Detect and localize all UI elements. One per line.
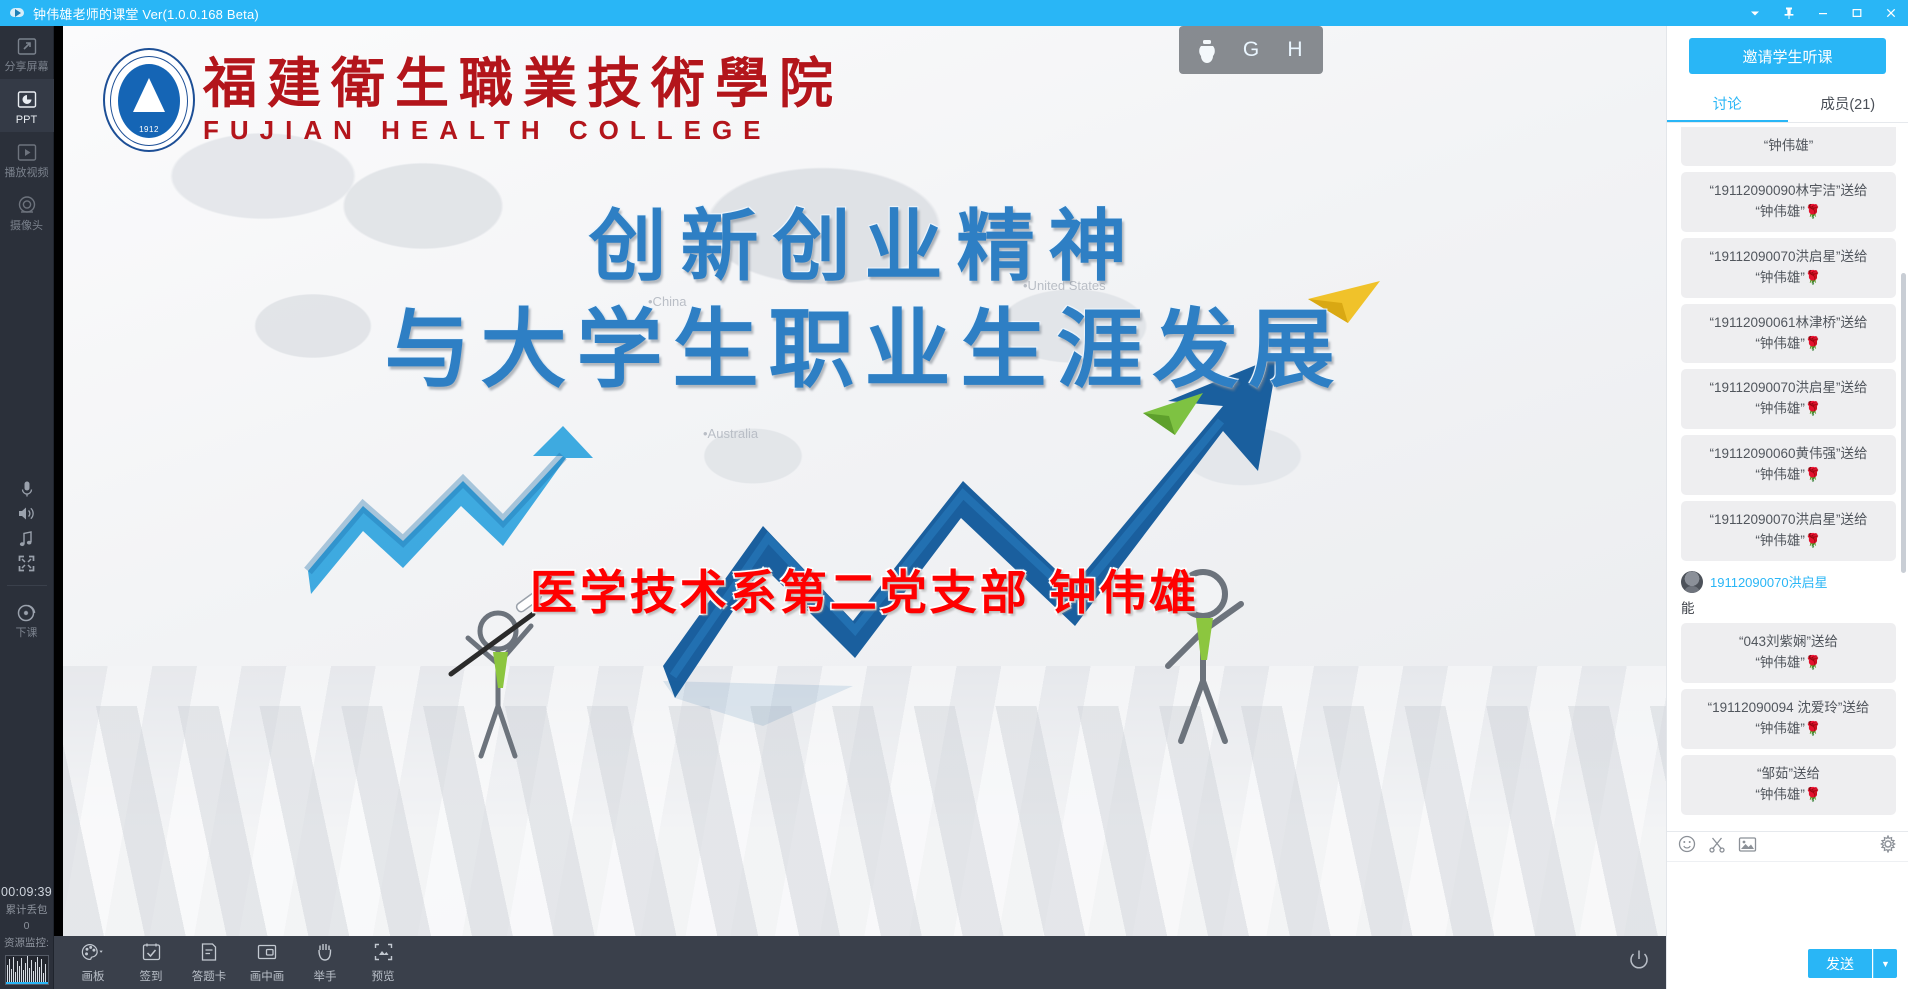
- end-class-label: 下课: [16, 627, 38, 639]
- send-button[interactable]: 发送: [1808, 949, 1872, 978]
- toolbar-item-pip[interactable]: 画中画: [238, 936, 296, 989]
- gift-message-line1: “19112090060黄伟强”送给: [1691, 444, 1886, 465]
- headline-line-2: 与大学生职业生涯发展: [63, 296, 1666, 404]
- music-button[interactable]: [0, 529, 54, 554]
- fullscreen-icon: [18, 555, 35, 577]
- slide-subtitle: 医学技术系第二党支部 钟伟雄: [63, 554, 1666, 623]
- sidebar-item-label: 分享屏幕: [5, 61, 49, 73]
- slide-headline: 创新创业精神 与大学生职业生涯发展: [63, 198, 1666, 403]
- toolbar-item-label: 画中画: [250, 968, 285, 984]
- pin-icon[interactable]: [1772, 0, 1806, 26]
- maximize-icon[interactable]: [1840, 0, 1874, 26]
- rose-icon: 🌹: [1805, 533, 1822, 548]
- raise-hand-icon: [315, 942, 335, 965]
- rose-icon: 🌹: [1805, 336, 1822, 351]
- chat-scrollbar[interactable]: [1901, 273, 1906, 573]
- invite-wrap: 邀请学生听课: [1667, 26, 1908, 84]
- minimize-icon[interactable]: [1806, 0, 1840, 26]
- class-timer: 00:09:39: [1, 885, 52, 899]
- college-name-cn: 福建衛生職業技術學院: [203, 54, 843, 113]
- rose-icon: 🌹: [1805, 721, 1822, 736]
- gift-message-line2: “钟伟雄”: [1691, 136, 1886, 157]
- gift-message-line1: “19112090061林津桥”送给: [1691, 313, 1886, 334]
- preview-icon: [373, 942, 394, 965]
- list-item: “19112090061林津桥”送给 “钟伟雄”🌹: [1681, 304, 1896, 364]
- rose-icon: 🌹: [1805, 467, 1822, 482]
- microphone-icon: [19, 480, 35, 503]
- list-item: “19112090070洪启星”送给 “钟伟雄”🌹: [1681, 501, 1896, 561]
- gift-message-line2: “钟伟雄”: [1755, 336, 1805, 351]
- list-item: “19112090070洪启星”送给 “钟伟雄”🌹: [1681, 238, 1896, 298]
- toolbar-item-preview[interactable]: 预览: [354, 936, 412, 989]
- fullscreen-button[interactable]: [0, 554, 54, 579]
- toolbar-item-label: 预览: [372, 968, 395, 984]
- close-icon[interactable]: [1874, 0, 1908, 26]
- growth-arrows-graphic: [63, 26, 1666, 936]
- toolbar-item-label: 举手: [314, 968, 337, 984]
- tool-g-button[interactable]: G: [1231, 30, 1271, 70]
- scissors-icon[interactable]: [1708, 835, 1726, 858]
- college-name-en: FUJIAN HEALTH COLLEGE: [203, 115, 843, 146]
- microphone-button[interactable]: [0, 479, 54, 504]
- headline-line-1: 创新创业精神: [63, 198, 1666, 296]
- end-class-icon: [14, 601, 40, 623]
- toolbar-item-palette[interactable]: 画板: [64, 936, 122, 989]
- status-block: 00:09:39 累计丢包 0 资源监控:: [0, 885, 54, 989]
- toolbar-item-label: 画板: [82, 968, 105, 984]
- power-button[interactable]: [1612, 936, 1666, 989]
- ppt-icon: [14, 88, 40, 110]
- toolbar-item-raise-hand[interactable]: 举手: [296, 936, 354, 989]
- rose-icon: 🌹: [1805, 401, 1822, 416]
- message-body: 能: [1681, 597, 1896, 617]
- sidebar-item-label: 摄像头: [10, 220, 43, 232]
- gift-message-line1: “邹茹”送给: [1691, 764, 1886, 785]
- tool-h-button[interactable]: H: [1275, 30, 1315, 70]
- slide-float-toolbar: G H: [1179, 26, 1323, 74]
- tab-members[interactable]: 成员(21): [1788, 84, 1908, 122]
- speaker-icon: [17, 505, 36, 527]
- window-title: 钟伟雄老师的课堂 Ver(1.0.0.168 Beta): [33, 4, 259, 23]
- left-toolbar: 分享屏幕 PPT 播放视频: [0, 26, 54, 989]
- gift-message-line1: “19112090070洪启星”送给: [1691, 247, 1886, 268]
- presentation-stage: •United States •China •Australia: [54, 26, 1666, 989]
- gift-message-line1: “043刘紫娴”送给: [1691, 632, 1886, 653]
- right-panel: 邀请学生听课 讨论 成员(21) “钟伟雄” “19112090090林宇洁”送…: [1666, 26, 1908, 989]
- crest-year: 1912: [105, 125, 193, 134]
- panel-tabs: 讨论 成员(21): [1667, 84, 1908, 123]
- gift-message-line2: “钟伟雄”: [1755, 401, 1805, 416]
- checkin-icon: [141, 942, 162, 965]
- sidebar-item-label: 播放视频: [5, 167, 49, 179]
- palette-icon: [81, 942, 105, 965]
- play-video-icon: [14, 141, 40, 163]
- gift-message-line2: “钟伟雄”: [1755, 655, 1805, 670]
- resource-monitor-label: 资源监控:: [4, 935, 49, 950]
- gift-message-line2: “钟伟雄”: [1755, 533, 1805, 548]
- toolbar-item-label: 答题卡: [192, 968, 227, 984]
- invite-students-button[interactable]: 邀请学生听课: [1689, 38, 1886, 74]
- composer-input-area[interactable]: [1667, 862, 1908, 949]
- resource-monitor-graph: [5, 955, 49, 985]
- rose-icon: 🌹: [1805, 204, 1822, 219]
- gift-message-line1: “19112090090林宇洁”送给: [1691, 181, 1886, 202]
- power-icon: [1628, 949, 1650, 976]
- sidebar-item-camera[interactable]: 摄像头: [0, 185, 54, 238]
- sidebar-item-share-screen[interactable]: 分享屏幕: [0, 26, 54, 79]
- message-composer: 发送 ▼: [1667, 831, 1908, 989]
- college-crest-icon: 1912: [103, 48, 195, 152]
- composer-toolbar: [1667, 832, 1908, 862]
- message-input[interactable]: [1678, 868, 1897, 943]
- list-item: “19112090070洪启星”送给 “钟伟雄”🌹: [1681, 369, 1896, 429]
- rose-icon: 🌹: [1805, 270, 1822, 285]
- answer-card-icon: [199, 942, 219, 965]
- gift-message-line1: “19112090094 沈爱玲”送给: [1691, 698, 1886, 719]
- chevron-down-icon[interactable]: [1738, 0, 1772, 26]
- toolbar-item-answer-card[interactable]: 答题卡: [180, 936, 238, 989]
- list-item: 19112090070洪启星 能: [1681, 571, 1896, 617]
- packet-loss-value: 0: [24, 920, 30, 932]
- college-logo: 1912 福建衛生職業技術學院 FUJIAN HEALTH COLLEGE: [103, 48, 843, 152]
- app-logo-icon: [10, 5, 26, 21]
- toolbar-item-label: 签到: [140, 968, 163, 984]
- gear-icon[interactable]: [1879, 835, 1897, 858]
- list-item: “19112090094 沈爱玲”送给 “钟伟雄”🌹: [1681, 689, 1896, 749]
- chat-list[interactable]: “钟伟雄” “19112090090林宇洁”送给 “钟伟雄”🌹 “1911209…: [1667, 123, 1908, 831]
- gift-message-line2: “钟伟雄”: [1755, 204, 1805, 219]
- rose-icon: 🌹: [1805, 655, 1822, 670]
- gift-message-line2: “钟伟雄”: [1755, 467, 1805, 482]
- list-item: “邹茹”送给 “钟伟雄”🌹: [1681, 755, 1896, 815]
- rose-icon: 🌹: [1805, 787, 1822, 802]
- camera-icon: [14, 194, 40, 216]
- sidebar-item-label: PPT: [16, 114, 37, 126]
- gift-message-line2: “钟伟雄”: [1755, 787, 1805, 802]
- packet-loss-label: 累计丢包: [6, 902, 48, 917]
- picture-in-picture-icon: [256, 942, 278, 965]
- list-item: “19112090060黄伟强”送给 “钟伟雄”🌹: [1681, 435, 1896, 495]
- list-item: “19112090090林宇洁”送给 “钟伟雄”🌹: [1681, 172, 1896, 232]
- list-item: “043刘紫娴”送给 “钟伟雄”🌹: [1681, 623, 1896, 683]
- toolbar-item-checkin[interactable]: 签到: [122, 936, 180, 989]
- gift-message-line1: “19112090070洪启星”送给: [1691, 510, 1886, 531]
- bottom-toolbar: 画板 签到 答题卡: [54, 936, 1666, 989]
- message-sender-name[interactable]: 19112090070洪启星: [1710, 572, 1828, 591]
- composer-send-row: 发送 ▼: [1667, 949, 1908, 989]
- sidebar-item-ppt[interactable]: PPT: [0, 79, 54, 132]
- sidebar-item-play-video[interactable]: 播放视频: [0, 132, 54, 185]
- gift-message-line1: “19112090070洪启星”送给: [1691, 378, 1886, 399]
- speaker-button[interactable]: [0, 504, 54, 529]
- emoji-icon[interactable]: [1678, 835, 1696, 858]
- laser-pointer-icon[interactable]: [1187, 30, 1227, 70]
- tab-discussion[interactable]: 讨论: [1667, 84, 1788, 122]
- divider: [7, 585, 47, 586]
- ppt-slide[interactable]: •United States •China •Australia: [63, 26, 1666, 936]
- music-icon: [18, 530, 35, 553]
- gift-message-line2: “钟伟雄”: [1755, 721, 1805, 736]
- list-item: “钟伟雄”: [1681, 127, 1896, 166]
- avatar: [1681, 571, 1703, 593]
- send-dropdown-button[interactable]: ▼: [1873, 949, 1897, 978]
- title-bar: 钟伟雄老师的课堂 Ver(1.0.0.168 Beta): [0, 0, 1908, 26]
- share-screen-icon: [14, 35, 40, 57]
- image-icon[interactable]: [1738, 836, 1757, 858]
- end-class-button[interactable]: 下课: [0, 592, 54, 645]
- gift-message-line2: “钟伟雄”: [1755, 270, 1805, 285]
